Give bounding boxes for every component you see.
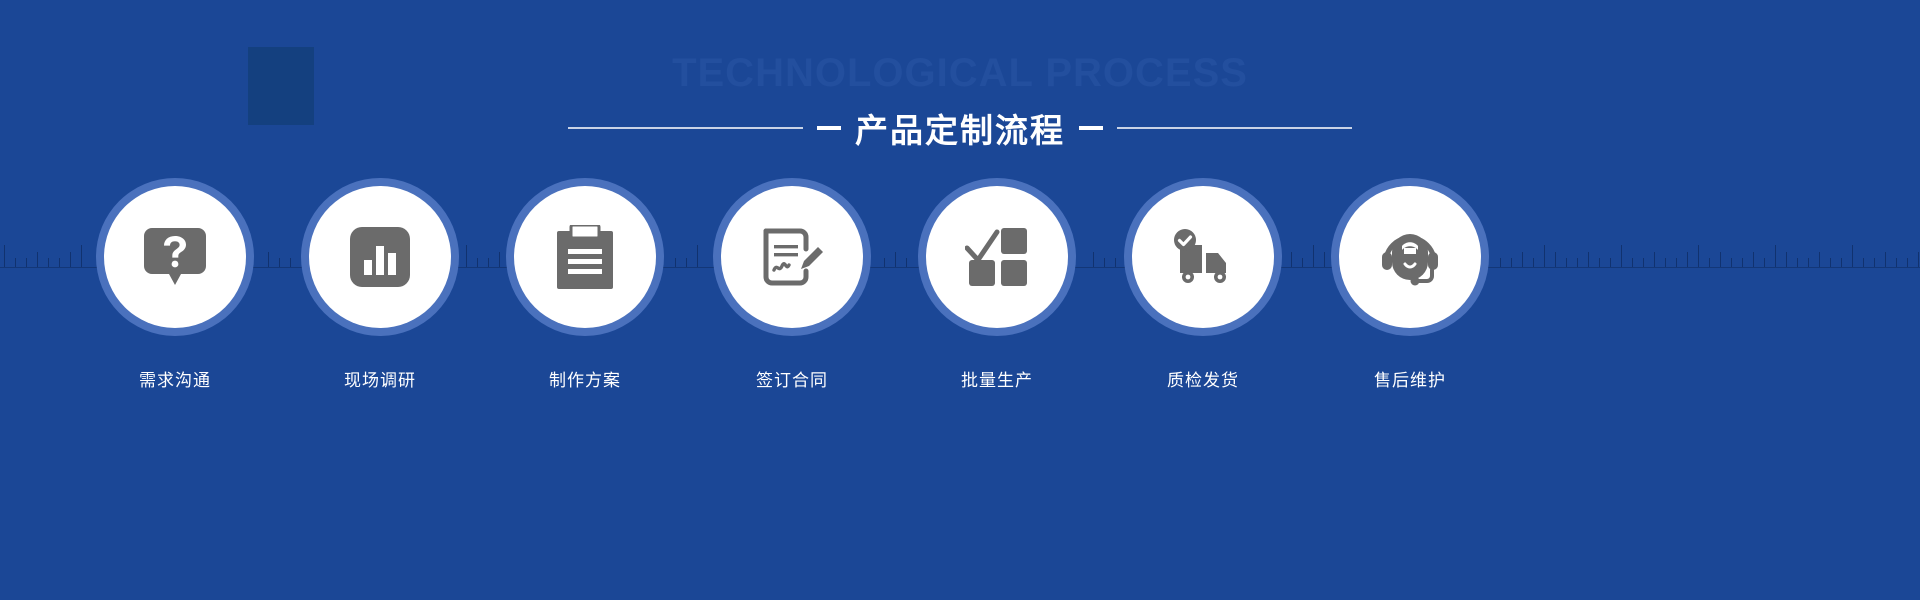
headset-support-icon <box>1378 226 1442 288</box>
step-label: 批量生产 <box>922 366 1072 391</box>
dash-right <box>1079 126 1103 130</box>
rule-left <box>568 127 803 129</box>
bar-chart-icon <box>350 227 410 287</box>
step-icon-circle[interactable] <box>104 186 246 328</box>
process-step-5[interactable]: 批量生产 <box>922 186 1072 391</box>
process-banner: TECHNOLOGICAL PROCESS 产品定制流程 需求沟通现场调研制作方… <box>0 0 1920 600</box>
subtitle-chinese: 产品定制流程 <box>855 104 1065 152</box>
process-step-7[interactable]: 售后维护 <box>1335 186 1485 391</box>
step-label: 需求沟通 <box>100 366 250 391</box>
process-step-6[interactable]: 质检发货 <box>1128 186 1278 391</box>
process-step-4[interactable]: 签订合同 <box>717 186 867 391</box>
step-icon-circle[interactable] <box>309 186 451 328</box>
step-icon-circle[interactable] <box>721 186 863 328</box>
headline-english: TECHNOLOGICAL PROCESS <box>0 50 1920 96</box>
rule-right <box>1117 127 1352 129</box>
step-label: 现场调研 <box>305 366 455 391</box>
step-label: 制作方案 <box>510 366 660 391</box>
step-label: 质检发货 <box>1128 366 1278 391</box>
step-icon-circle[interactable] <box>1339 186 1481 328</box>
clipboard-icon <box>557 225 613 289</box>
step-label: 售后维护 <box>1335 366 1485 391</box>
process-step-3[interactable]: 制作方案 <box>510 186 660 391</box>
process-steps: 需求沟通现场调研制作方案签订合同批量生产质检发货售后维护 <box>0 186 1920 416</box>
step-label: 签订合同 <box>717 366 867 391</box>
process-step-1[interactable]: 需求沟通 <box>100 186 250 391</box>
dash-left <box>817 126 841 130</box>
check-grid-icon <box>965 226 1029 288</box>
delivery-truck-check-icon <box>1168 229 1238 285</box>
contract-signature-icon <box>760 225 824 289</box>
step-icon-circle[interactable] <box>926 186 1068 328</box>
process-step-2[interactable]: 现场调研 <box>305 186 455 391</box>
step-icon-circle[interactable] <box>1132 186 1274 328</box>
subtitle-row: 产品定制流程 <box>0 104 1920 152</box>
step-icon-circle[interactable] <box>514 186 656 328</box>
question-bubble-icon <box>144 228 206 286</box>
